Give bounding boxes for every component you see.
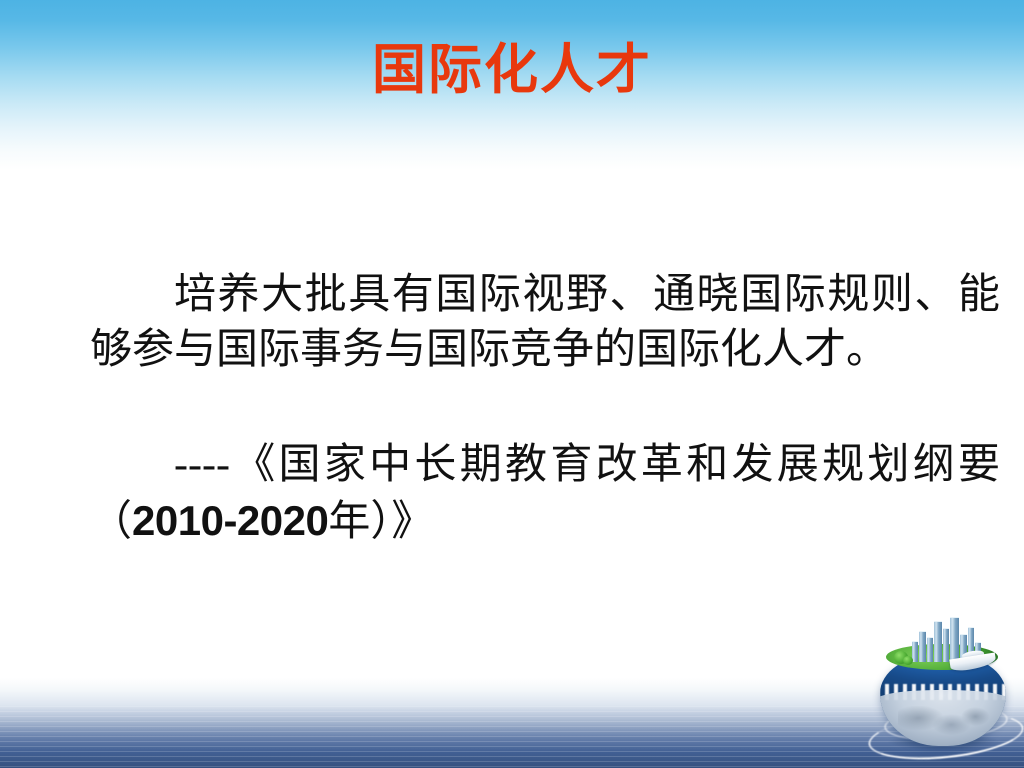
building bbox=[919, 631, 926, 662]
building bbox=[950, 617, 959, 662]
building bbox=[943, 628, 949, 662]
page-title: 国际化人才 bbox=[0, 38, 1024, 102]
ocean-gradient-background bbox=[0, 678, 1024, 768]
source-paragraph: ----《国家中长期教育改革和发展规划纲要（2010-2020年）》 bbox=[90, 438, 1000, 550]
source-suffix: 年）》 bbox=[328, 499, 433, 545]
tree bbox=[903, 656, 913, 665]
building bbox=[934, 621, 942, 662]
quote-paragraph: 培养大批具有国际视野、通晓国际规则、能够参与国际事务与国际竞争的国际化人才。 bbox=[90, 268, 1000, 378]
slide-body: 培养大批具有国际视野、通晓国际规则、能够参与国际事务与国际竞争的国际化人才。 -… bbox=[90, 268, 1000, 550]
source-year-range: 2010-2020 bbox=[132, 497, 328, 544]
globe-city-icon bbox=[872, 618, 1018, 758]
slide-canvas: 国际化人才 培养大批具有国际视野、通晓国际规则、能够参与国际事务与国际竞争的国际… bbox=[0, 0, 1024, 768]
globe-map-continents bbox=[898, 706, 990, 736]
building bbox=[927, 637, 933, 662]
